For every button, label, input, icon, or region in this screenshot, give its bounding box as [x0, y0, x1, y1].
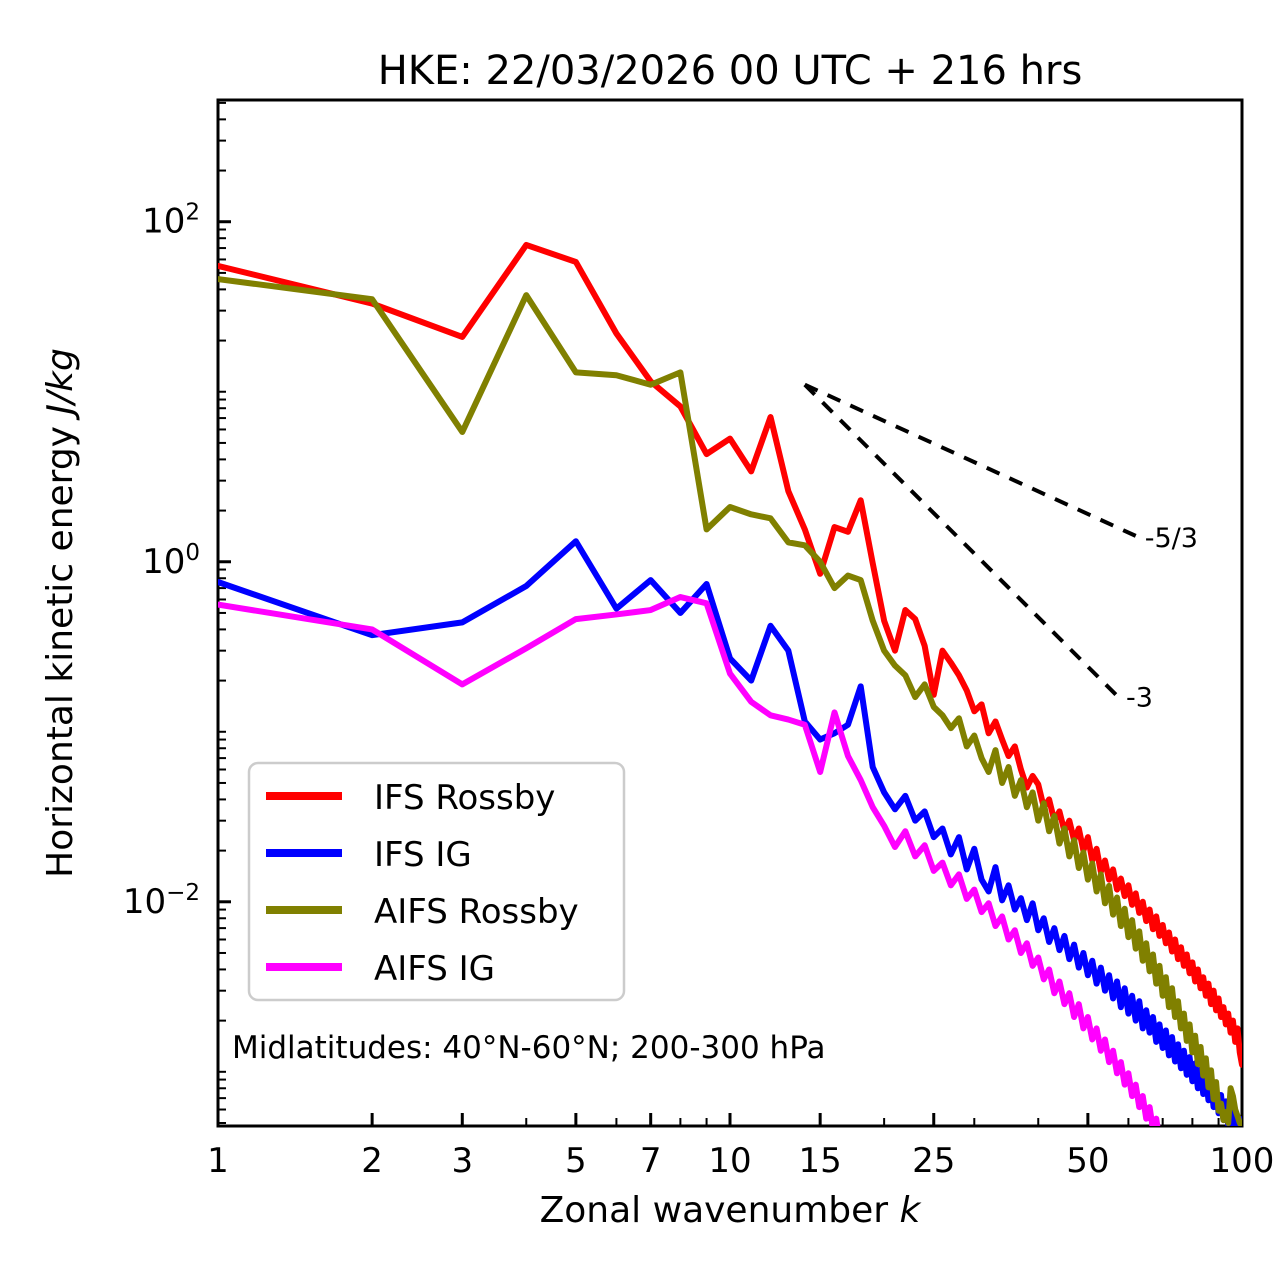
x-tick-label: 100	[1210, 1141, 1275, 1181]
chart-title: HKE: 22/03/2026 00 UTC + 216 hrs	[378, 48, 1083, 94]
x-tick-label: 3	[451, 1141, 473, 1181]
legend-label-ifs-ig: IFS IG	[374, 835, 472, 875]
region-annotation: Midlatitudes: 40°N-60°N; 200-300 hPa	[232, 1030, 826, 1066]
x-tick-label: 2	[361, 1141, 383, 1181]
legend-label-ifs-rossby: IFS Rossby	[374, 778, 555, 818]
chart-legend: IFS RossbyIFS IGAIFS RossbyAIFS IG	[249, 763, 624, 1000]
legend-label-aifs-rossby: AIFS Rossby	[374, 892, 579, 932]
x-tick-label: 10	[708, 1141, 751, 1181]
reference-label-53: -5/3	[1145, 523, 1198, 554]
x-tick-label: 25	[912, 1141, 955, 1181]
y-axis-label: Horizontal kinetic energy J/kg	[40, 348, 81, 878]
x-tick-label: 50	[1066, 1141, 1109, 1181]
figure-canvas: HKE: 22/03/2026 00 UTC + 216 hrs 1235710…	[0, 0, 1280, 1288]
hke-spectrum-chart: HKE: 22/03/2026 00 UTC + 216 hrs 1235710…	[0, 0, 1280, 1288]
reference-label-3: -3	[1126, 683, 1153, 714]
figure-background	[0, 0, 1280, 1288]
x-tick-label: 1	[207, 1141, 229, 1181]
x-tick-label: 15	[799, 1141, 842, 1181]
x-axis-label: Zonal wavenumber k	[540, 1190, 923, 1231]
x-tick-label: 7	[640, 1141, 662, 1181]
x-axis-minor-ticks	[218, 1118, 1242, 1126]
x-tick-label: 5	[565, 1141, 587, 1181]
legend-label-aifs-ig: AIFS IG	[374, 949, 495, 989]
